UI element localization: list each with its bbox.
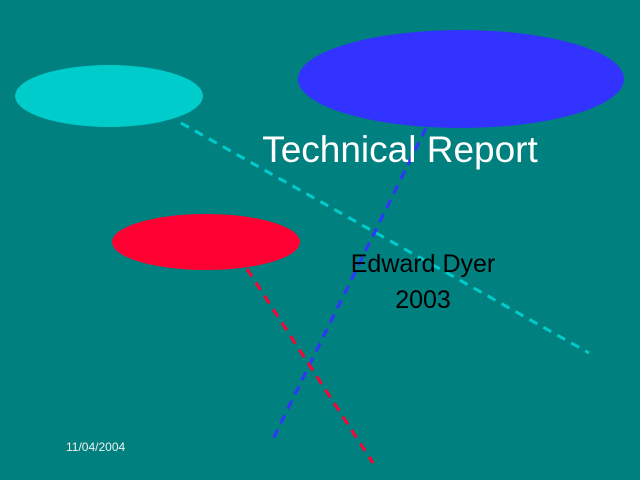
slide-graphics-layer xyxy=(0,0,640,480)
presentation-slide: Technical Report Edward Dyer 2003 11/04/… xyxy=(0,0,640,480)
blue-dashed-connector[interactable] xyxy=(272,128,426,441)
cyan-ellipse[interactable] xyxy=(15,65,203,127)
slide-date: 11/04/2004 xyxy=(66,441,125,453)
slide-author[interactable]: Edward Dyer xyxy=(103,252,640,277)
blue-ellipse[interactable] xyxy=(298,30,624,128)
slide-title[interactable]: Technical Report xyxy=(80,131,640,168)
slide-year[interactable]: 2003 xyxy=(103,288,640,313)
